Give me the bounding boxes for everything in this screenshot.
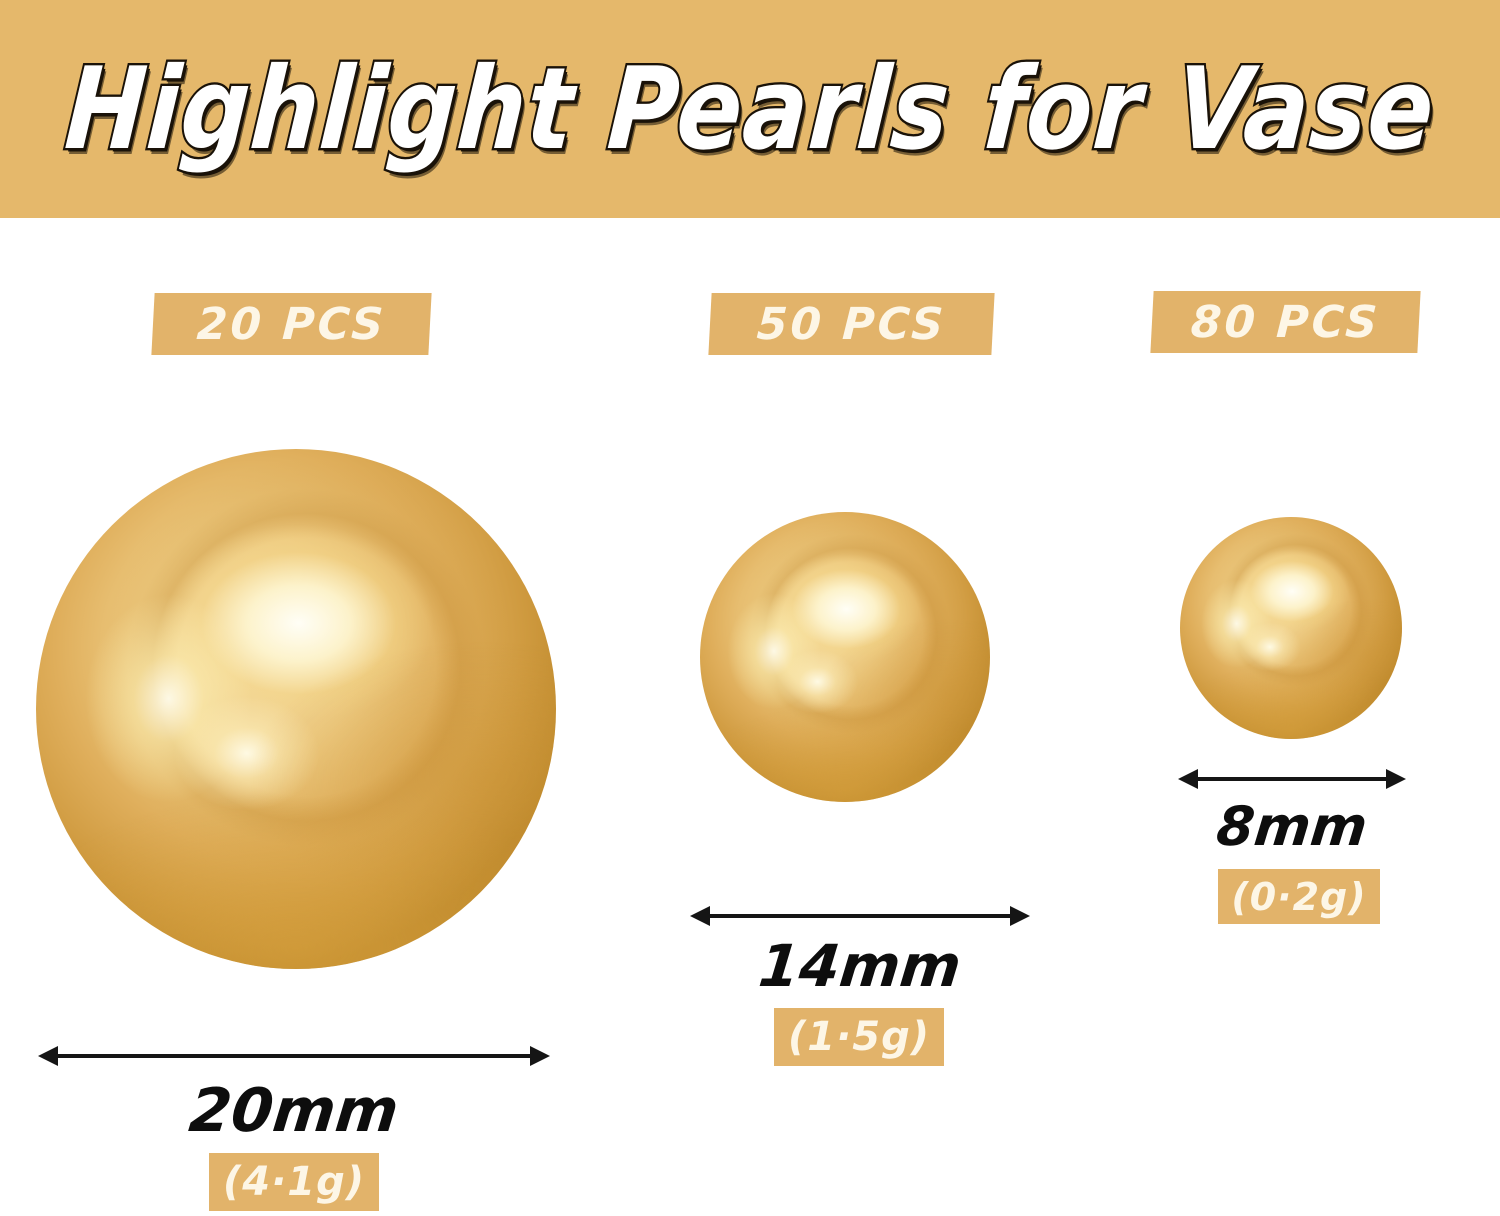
quantity-badge-label: 80 PCS	[1190, 297, 1382, 348]
quantity-badge-8mm: 80 PCS	[1150, 291, 1420, 353]
arrow-shaft	[1191, 777, 1393, 781]
arrow-shaft	[51, 1054, 537, 1058]
weight-badge-label: (0·2g)	[1231, 875, 1366, 919]
arrow-head-right-icon	[1010, 906, 1030, 926]
dimension-arrow-20mm	[38, 1043, 550, 1069]
header-band: Highlight Pearls for Vase	[0, 0, 1500, 218]
quantity-badge-label: 50 PCS	[756, 299, 948, 350]
quantity-badge-label: 20 PCS	[196, 299, 388, 350]
page-title: Highlight Pearls for Vase	[61, 43, 1439, 175]
weight-badge-label: (1·5g)	[788, 1014, 930, 1060]
weight-badge-label: (4·1g)	[223, 1159, 365, 1205]
quantity-badge-20mm: 20 PCS	[151, 293, 431, 355]
size-label-8mm: 8mm	[1175, 795, 1410, 858]
quantity-badge-14mm: 50 PCS	[708, 293, 994, 355]
dimension-arrow-14mm	[690, 903, 1030, 929]
weight-badge-14mm: (1·5g)	[774, 1008, 944, 1066]
gold-pearl-icon-8mm	[1180, 517, 1402, 739]
arrow-head-right-icon	[1386, 769, 1406, 789]
arrow-shaft	[703, 914, 1017, 918]
gold-pearl-icon-14mm	[700, 512, 990, 802]
size-label-14mm: 14mm	[686, 932, 1033, 1000]
weight-badge-20mm: (4·1g)	[209, 1153, 379, 1211]
gold-pearl-icon-20mm	[36, 449, 556, 969]
weight-badge-8mm: (0·2g)	[1218, 869, 1380, 924]
arrow-head-right-icon	[530, 1046, 550, 1066]
size-label-20mm: 20mm	[34, 1076, 553, 1146]
dimension-arrow-8mm	[1178, 766, 1406, 792]
